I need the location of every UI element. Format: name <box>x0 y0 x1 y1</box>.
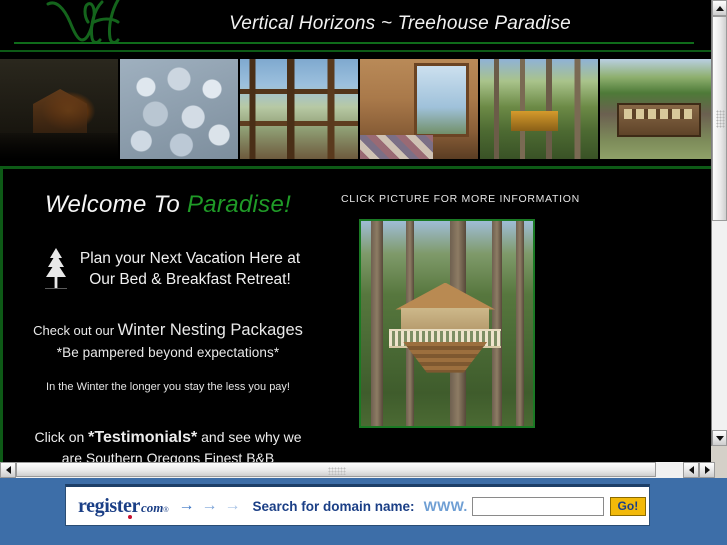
site-header: Vertical Horizons ~ Treehouse Paradise <box>0 0 711 52</box>
scrollbar-corner <box>711 446 727 462</box>
testimonials-link[interactable]: *Testimonials* <box>88 429 197 446</box>
scroll-left-button[interactable] <box>0 462 16 478</box>
scroll-down-arrow-icon <box>716 436 724 441</box>
testimonial-pre: Click on <box>34 429 88 445</box>
register-com-suffix: com <box>141 500 163 516</box>
welcome-heading: Welcome To Paradise! <box>3 191 333 219</box>
vertical-scrollbar[interactable] <box>711 0 727 462</box>
horizontal-thumb-grip <box>328 467 346 475</box>
pitch-text: Plan your Next Vacation Here at Our Bed … <box>80 248 300 290</box>
scroll-right-button[interactable] <box>699 462 715 478</box>
vertical-scroll-thumb[interactable] <box>712 16 727 221</box>
testimonial-post: and see why we <box>197 429 301 445</box>
register-trademark-symbol: ® <box>163 507 168 514</box>
strip-photo-cabin-at-night[interactable] <box>0 59 118 159</box>
ad-www-prefix: WWW. <box>424 498 468 514</box>
left-column: Welcome To Paradise! Plan your Next Vaca… <box>3 169 333 462</box>
arrow-right-icon-2: → <box>202 498 218 514</box>
browser-window: Vertical Horizons ~ Treehouse Paradise W… <box>0 0 727 545</box>
treehouse-photo[interactable] <box>359 219 535 428</box>
right-column: CLICK PICTURE FOR MORE INFORMATION <box>333 169 703 462</box>
pine-tree-icon <box>42 247 70 291</box>
horizontal-scroll-thumb[interactable] <box>16 462 656 477</box>
nesting-quote: *Be pampered beyond expectations* <box>3 343 333 362</box>
strip-photo-stone-mosaic-wall[interactable] <box>120 59 238 159</box>
page-viewport: Vertical Horizons ~ Treehouse Paradise W… <box>0 0 711 462</box>
scroll-thumb-grip <box>716 110 725 128</box>
strip-photo-timber-window-deck[interactable] <box>240 59 358 159</box>
scroll-up-button[interactable] <box>712 0 727 16</box>
page-body: Welcome To Paradise! Plan your Next Vaca… <box>0 169 711 462</box>
winter-nesting-block: Check out our Winter Nesting Packages *B… <box>3 321 333 397</box>
register-wordmark: register <box>78 495 140 518</box>
scroll-left-button-secondary[interactable] <box>683 462 699 478</box>
arrow-right-icon-3: → <box>225 498 241 514</box>
welcome-accent: Paradise! <box>187 191 291 218</box>
welcome-lead: Welcome To <box>45 191 187 218</box>
go-button[interactable]: Go! <box>610 497 647 516</box>
photo-strip <box>0 52 711 169</box>
vh-monogram-logo[interactable] <box>34 0 144 48</box>
vacation-pitch: Plan your Next Vacation Here at Our Bed … <box>3 247 333 291</box>
arrow-group: → → → <box>179 498 241 514</box>
strip-photo-forest-treehouse[interactable] <box>480 59 598 159</box>
ad-zone: register com ® → → → Search for domain n… <box>0 478 727 545</box>
register-com-ad-banner[interactable]: register com ® → → → Search for domain n… <box>65 484 650 526</box>
strip-photo-log-bedroom[interactable] <box>360 59 478 159</box>
nesting-title[interactable]: Winter Nesting Packages <box>118 321 303 339</box>
header-divider <box>14 42 694 44</box>
scroll-up-arrow-icon <box>716 6 724 11</box>
arrow-right-icon-1: → <box>179 498 195 514</box>
vertical-scroll-track[interactable] <box>712 16 727 430</box>
register-red-dot-icon <box>128 515 132 519</box>
scroll-left-arrow-icon-secondary <box>689 466 694 474</box>
strip-photo-lodge-exterior[interactable] <box>600 59 711 159</box>
testimonials-block: Click on *Testimonials* and see why we a… <box>3 427 333 462</box>
scroll-down-button[interactable] <box>712 430 727 446</box>
domain-search-input[interactable] <box>472 497 604 516</box>
page-title: Vertical Horizons ~ Treehouse Paradise <box>160 13 640 35</box>
treehouse-photo-image <box>361 221 533 426</box>
nesting-note: In the Winter the longer you stay the le… <box>3 378 333 397</box>
horizontal-scrollbar[interactable] <box>0 462 683 478</box>
horizontal-scroll-button-pair[interactable] <box>683 462 727 478</box>
register-com-logo[interactable]: register com ® <box>78 495 169 518</box>
scroll-right-arrow-icon <box>705 466 710 474</box>
ad-search-label: Search for domain name: <box>253 499 415 514</box>
nesting-lead: Check out our <box>33 323 118 338</box>
scroll-left-arrow-icon <box>6 466 11 474</box>
click-picture-info: CLICK PICTURE FOR MORE INFORMATION <box>341 193 703 205</box>
horizontal-scroll-track[interactable] <box>16 462 683 478</box>
testimonial-line2: are Southern Oregons Finest B&B <box>3 448 333 462</box>
